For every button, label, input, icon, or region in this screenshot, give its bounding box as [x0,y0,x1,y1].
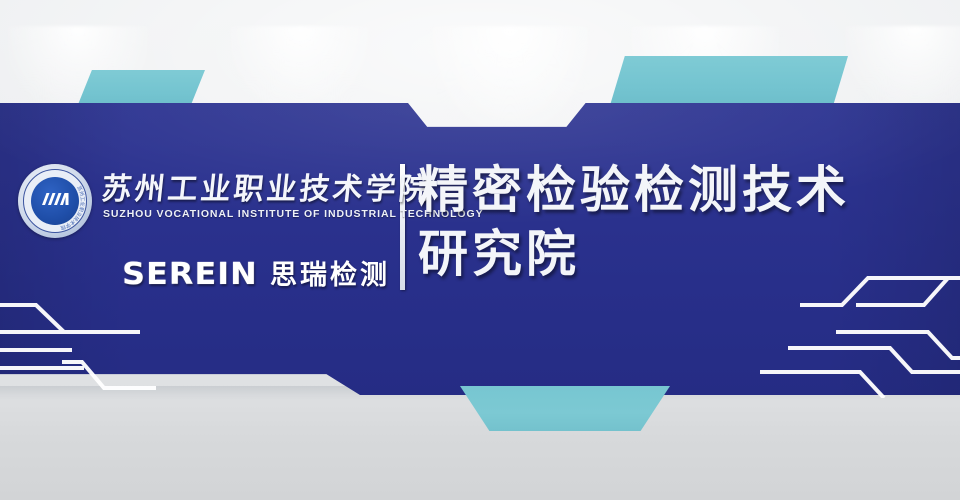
crest-monogram-siit-icon: 苏州工业职业技术学院 [18,164,92,238]
teal-panel-bottom-center [460,386,670,431]
institute-title-line-2: 研究院 [418,222,948,286]
institute-title: 精密检验检测技术 研究院 [418,158,948,286]
institution-logo-lockup: 苏州工业职业技术学院 苏州工业职业技术学院 SUZHOU VOCATIONAL … [16,158,396,290]
serein-name-cn: 思瑞检测 [270,253,390,292]
signage-scene: 苏州工业职业技术学院 苏州工业职业技术学院 SUZHOU VOCATIONAL … [0,0,960,500]
svg-text:苏州工业职业技术学院: 苏州工业职业技术学院 [60,185,86,232]
serein-wordmark: SEREIN [122,257,258,292]
university-crest-icon: 苏州工业职业技术学院 [18,164,92,238]
partner-brand-lockup: SEREIN 思瑞检测 [126,253,390,292]
university-name-cn: 苏州工业职业技术学院 [100,164,435,208]
institute-title-line-1: 精密检验检测技术 [418,158,948,222]
